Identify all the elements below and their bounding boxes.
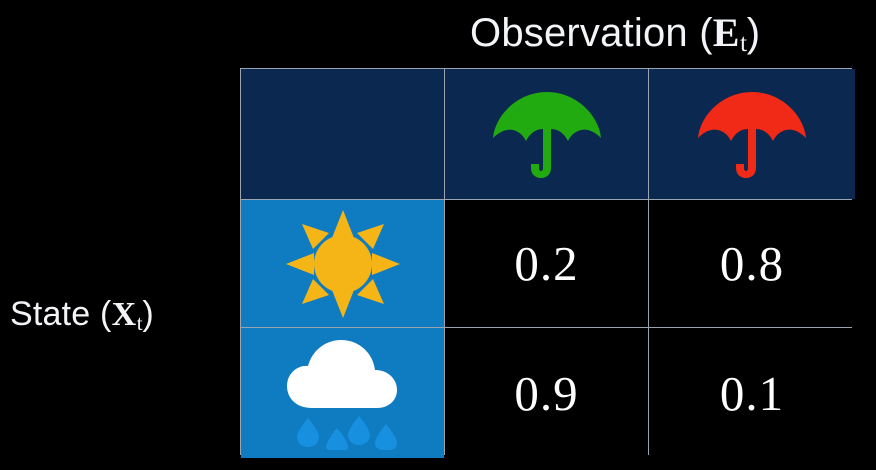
row-header-rain-cloud bbox=[241, 328, 444, 458]
observation-variable: Et bbox=[713, 10, 747, 55]
conditional-probability-table: 0.2 0.8 0.9 0.1 bbox=[240, 68, 852, 455]
state-variable-subscript: t bbox=[137, 311, 143, 335]
probability-cell-sun-red: 0.8 bbox=[649, 200, 855, 327]
green-umbrella-icon bbox=[445, 69, 648, 199]
observation-variable-subscript: t bbox=[740, 30, 747, 57]
probability-value: 0.8 bbox=[720, 239, 784, 288]
probability-value: 0.9 bbox=[514, 369, 578, 418]
observation-label-text: Observation bbox=[470, 11, 688, 55]
state-label-text: State bbox=[10, 295, 90, 333]
red-umbrella-icon bbox=[649, 69, 855, 199]
probability-cell-rain-green: 0.9 bbox=[445, 328, 648, 458]
probability-cell-rain-red: 0.1 bbox=[649, 328, 855, 458]
column-header-green-umbrella bbox=[445, 69, 648, 199]
observation-axis-label: Observation (Et) bbox=[470, 8, 760, 64]
probability-cell-sun-green: 0.2 bbox=[445, 200, 648, 327]
rain-cloud-icon bbox=[241, 328, 444, 458]
state-variable-letter: X bbox=[112, 296, 137, 333]
row-header-sun bbox=[241, 200, 444, 327]
column-header-red-umbrella bbox=[649, 69, 855, 199]
probability-value: 0.1 bbox=[720, 369, 784, 418]
table-corner-cell bbox=[241, 69, 444, 199]
probability-value: 0.2 bbox=[514, 239, 578, 288]
observation-variable-letter: E bbox=[713, 10, 740, 55]
state-axis-label: State (Xt) bbox=[10, 292, 154, 340]
sun-icon bbox=[241, 200, 444, 327]
state-variable: Xt bbox=[112, 296, 143, 333]
